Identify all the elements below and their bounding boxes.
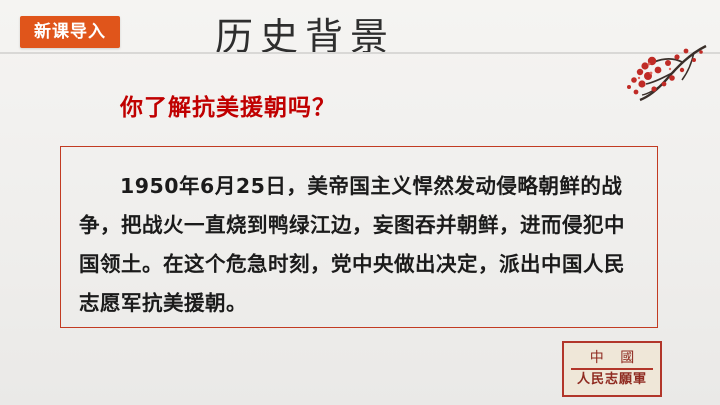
seal-line-1: 中 國 bbox=[584, 350, 640, 367]
plum-blossom-branch-icon bbox=[582, 40, 712, 115]
section-tag: 新课导入 bbox=[20, 16, 120, 48]
seal-line-2: 人民志願軍 bbox=[577, 371, 647, 389]
question-heading: 你了解抗美援朝吗？ bbox=[120, 88, 336, 122]
slide-canvas: 新课导入 历史背景 你了解抗美援朝吗？ 1950年6月25日，美帝国主义悍然发动… bbox=[0, 0, 720, 405]
volunteer-army-seal: 中 國 人民志願軍 bbox=[562, 341, 662, 397]
seal-divider bbox=[571, 368, 654, 370]
body-paragraph: 1950年6月25日，美帝国主义悍然发动侵略朝鲜的战争，把战火一直烧到鸭绿江边，… bbox=[61, 147, 657, 323]
content-textbox: 1950年6月25日，美帝国主义悍然发动侵略朝鲜的战争，把战火一直烧到鸭绿江边，… bbox=[60, 146, 658, 328]
